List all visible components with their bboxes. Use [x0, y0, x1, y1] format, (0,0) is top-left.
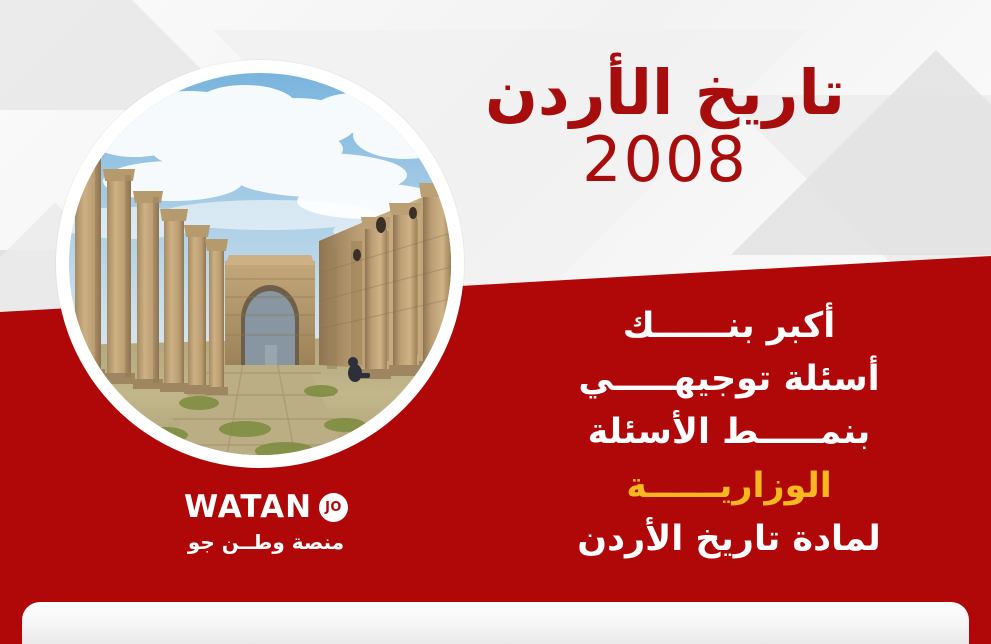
- logo-subtitle: منصة وطــن جو: [148, 532, 384, 552]
- poster-canvas: WATAN JO منصة وطــن جو تاريخ الأردن 2008…: [0, 0, 991, 644]
- hero-photo: [69, 73, 451, 455]
- watan-jo-logo[interactable]: WATAN JO منصة وطــن جو: [148, 492, 384, 552]
- logo-jo-badge: JO: [319, 493, 348, 522]
- hero-photo-ring: [56, 60, 464, 468]
- page-title: تاريخ الأردن 2008: [425, 58, 905, 193]
- title-main-line: تاريخ الأردن: [425, 58, 905, 127]
- promo-line-5: لمادة تاريخ الأردن: [559, 513, 899, 566]
- promo-copy-block: أكبر بنــــــك أسئلة توجيهـــــي بنمــــ…: [559, 300, 899, 566]
- logo-wordmark-text: WATAN: [184, 492, 312, 523]
- promo-line-1: أكبر بنــــــك: [559, 300, 899, 353]
- jerash-ruins-illustration: [69, 73, 451, 455]
- title-year-line: 2008: [425, 127, 905, 192]
- logo-wordmark: WATAN JO: [148, 492, 384, 523]
- bottom-sheet-panel: [22, 602, 969, 644]
- promo-line-3: بنمـــــط الأسئلة: [559, 406, 899, 459]
- promo-line-4-highlight: الوزاريــــــة: [559, 460, 899, 513]
- promo-line-2: أسئلة توجيهـــــي: [559, 353, 899, 406]
